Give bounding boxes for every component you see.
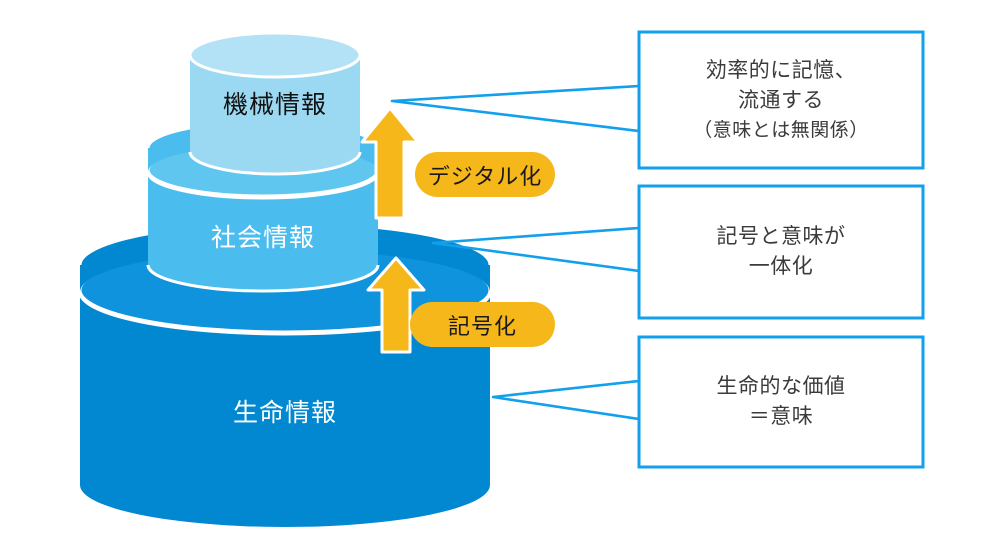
callout-box-machine[interactable] <box>639 32 923 168</box>
badge-symbolization[interactable] <box>410 302 555 347</box>
diagram-graphics <box>0 0 1000 550</box>
callout-box-social[interactable] <box>639 186 923 318</box>
leader-line-machine <box>392 86 639 131</box>
cylinder-machine[interactable] <box>190 33 360 174</box>
callout-box-life[interactable] <box>639 337 923 467</box>
badge-digitization[interactable] <box>415 152 555 197</box>
leader-line-life <box>493 381 639 419</box>
diagram-canvas: 機械情報 社会情報 生命情報 デジタル化 記号化 効率的に記憶、 流通する （意… <box>0 0 1000 550</box>
